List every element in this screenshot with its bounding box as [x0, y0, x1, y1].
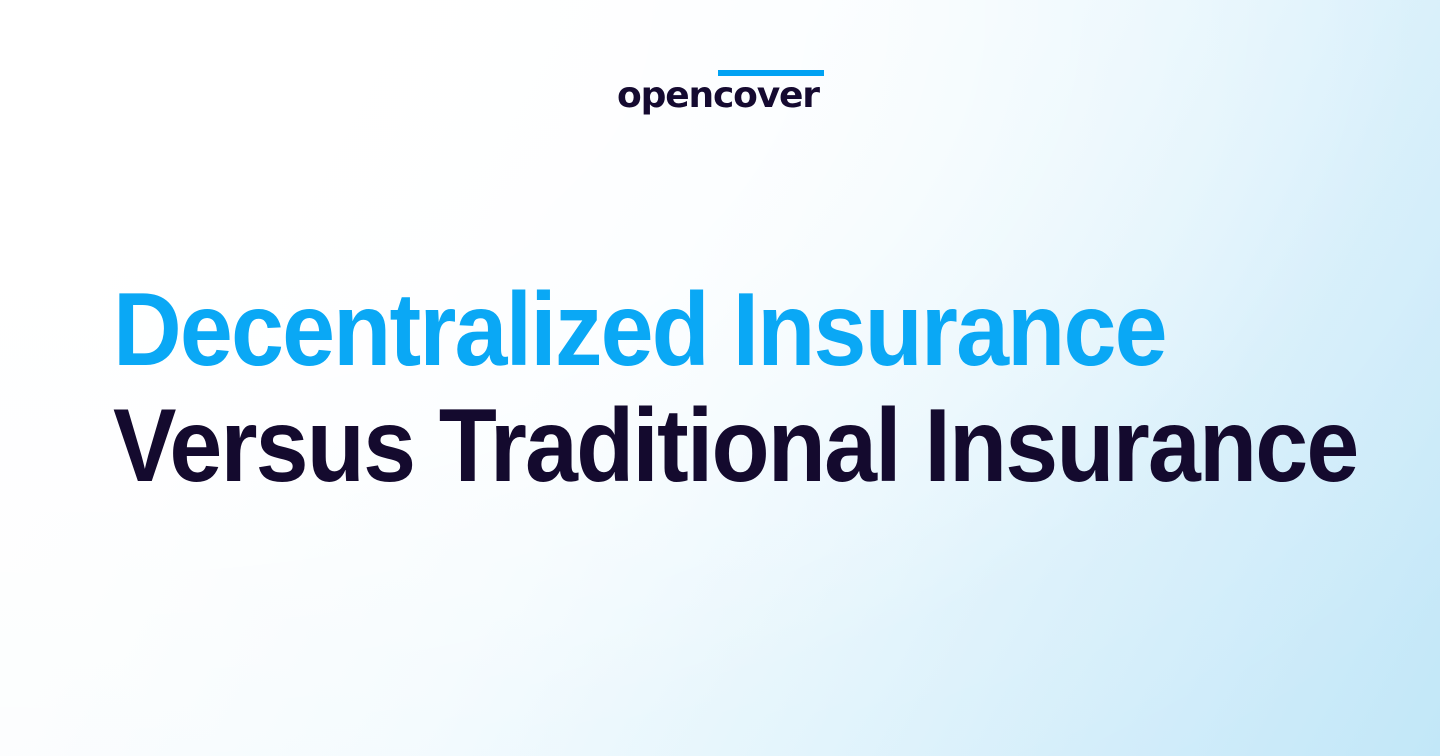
opencover-logo[interactable]: opencover — [617, 64, 829, 116]
page-title: Decentralized Insurance Versus Tradition… — [113, 272, 1338, 504]
page-title-line-2: Versus Traditional Insurance — [113, 388, 1234, 504]
hero-banner: opencover Decentralized Insurance Versus… — [0, 0, 1440, 756]
logo-wordmark: opencover — [617, 76, 819, 116]
content-layer: opencover Decentralized Insurance Versus… — [0, 0, 1440, 756]
page-title-line-1: Decentralized Insurance — [113, 272, 1234, 388]
